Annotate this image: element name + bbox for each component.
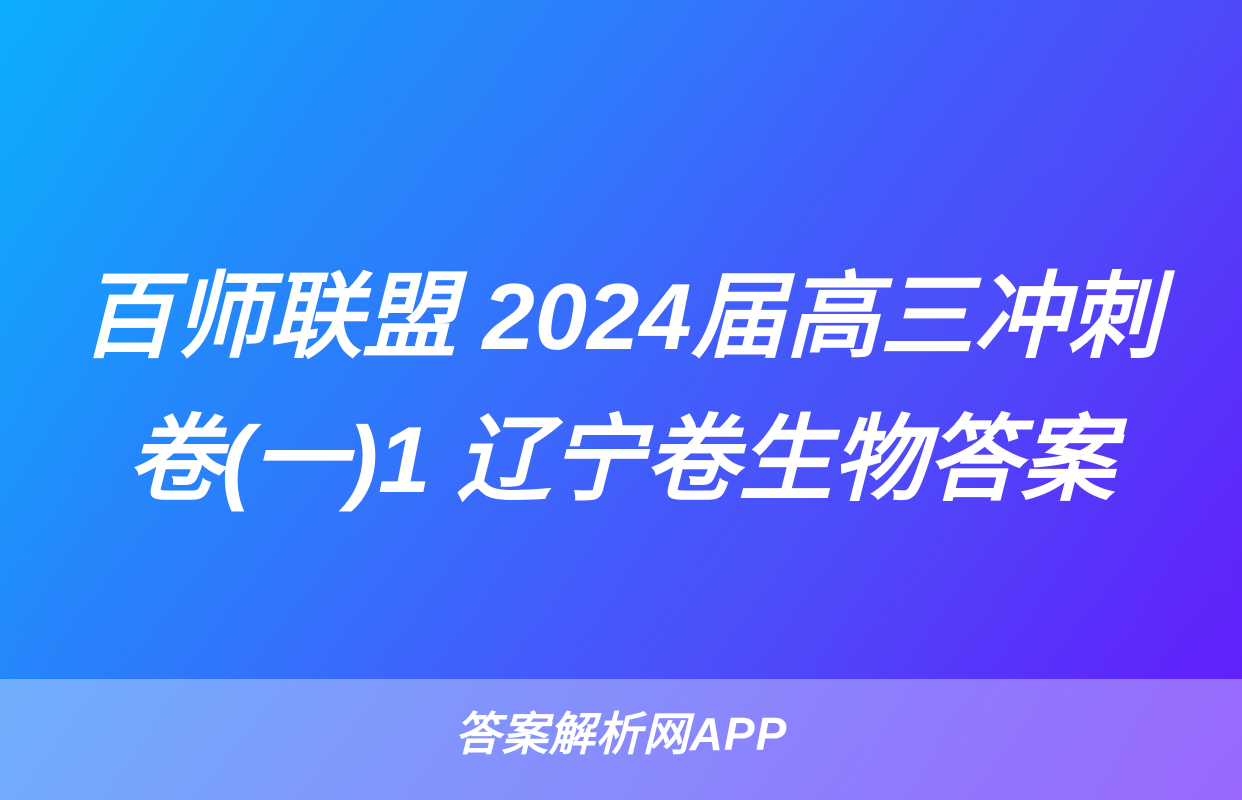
app-watermark: 答案解析网APP: [0, 706, 1242, 762]
answer-card-canvas: 百师联盟 2024届高三冲刺卷(一)1 辽宁卷生物答案 答案解析网APP: [0, 0, 1242, 800]
page-title: 百师联盟 2024届高三冲刺卷(一)1 辽宁卷生物答案: [69, 245, 1173, 531]
